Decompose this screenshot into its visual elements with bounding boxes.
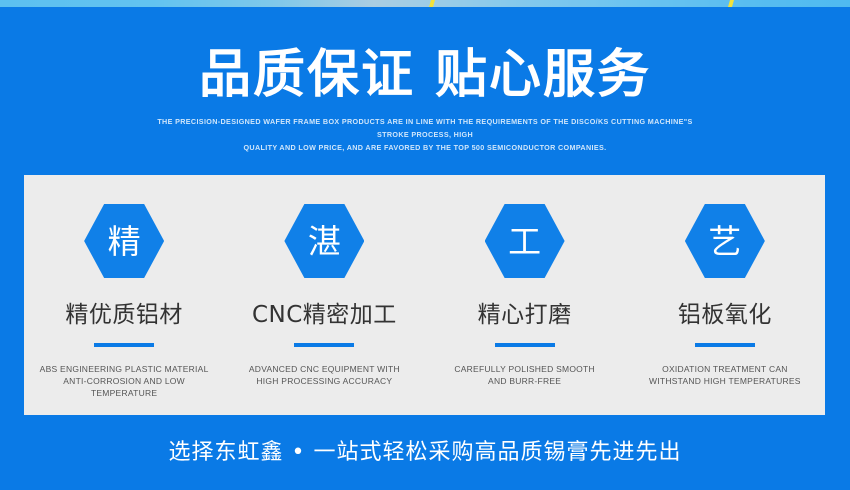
headline-subtitle: THE PRECISION-DESIGNED WAFER FRAME BOX P…	[153, 115, 698, 154]
hexagon-badge-label: 湛	[284, 204, 364, 278]
feature-description-line-2: AND BURR-FREE	[439, 375, 611, 387]
feature-title: 精优质铝材	[24, 301, 224, 329]
feature-title: 铝板氧化	[625, 301, 825, 329]
feature-title: CNC精密加工	[224, 301, 424, 329]
hexagon-badge-label: 精	[84, 204, 164, 278]
feature-underline-rule	[495, 343, 555, 347]
footer-tagline: 选择东虹鑫 • 一站式轻松采购高品质锡膏先进先出	[0, 438, 850, 468]
feature-item-2: 湛 CNC精密加工 ADVANCED CNC EQUIPMENT WITH HI…	[224, 175, 424, 415]
feature-description: OXIDATION TREATMENT CAN WITHSTAND HIGH T…	[639, 363, 811, 387]
feature-item-3: 工 精心打磨 CAREFULLY POLISHED SMOOTH AND BUR…	[425, 175, 625, 415]
hexagon-badge-icon: 湛	[284, 204, 364, 278]
promo-banner-page: 品质保证 贴心服务 THE PRECISION-DESIGNED WAFER F…	[0, 0, 850, 490]
feature-description: CAREFULLY POLISHED SMOOTH AND BURR-FREE	[439, 363, 611, 387]
feature-underline-rule	[294, 343, 354, 347]
top-gradient-strip	[0, 0, 850, 7]
feature-card: 精 精优质铝材 ABS ENGINEERING PLASTIC MATERIAL…	[24, 175, 825, 415]
feature-underline-rule	[94, 343, 154, 347]
feature-description-line-2: HIGH PROCESSING ACCURACY	[238, 375, 410, 387]
page-title: 品质保证 贴心服务	[0, 43, 850, 107]
feature-description-line-1: ADVANCED CNC EQUIPMENT WITH	[238, 363, 410, 375]
yellow-accent-tick-icon	[428, 0, 435, 7]
feature-description-line-1: ABS ENGINEERING PLASTIC MATERIAL	[38, 363, 210, 375]
feature-item-1: 精 精优质铝材 ABS ENGINEERING PLASTIC MATERIAL…	[24, 175, 224, 415]
feature-underline-rule	[695, 343, 755, 347]
feature-description-line-1: CAREFULLY POLISHED SMOOTH	[439, 363, 611, 375]
hexagon-badge-icon: 工	[485, 204, 565, 278]
headline-subtitle-line-1: THE PRECISION-DESIGNED WAFER FRAME BOX P…	[153, 115, 698, 141]
hexagon-badge-icon: 精	[84, 204, 164, 278]
feature-title: 精心打磨	[425, 301, 625, 329]
feature-description-line-2: WITHSTAND HIGH TEMPERATURES	[639, 375, 811, 387]
feature-description: ADVANCED CNC EQUIPMENT WITH HIGH PROCESS…	[238, 363, 410, 387]
feature-description-line-1: OXIDATION TREATMENT CAN	[639, 363, 811, 375]
feature-item-4: 艺 铝板氧化 OXIDATION TREATMENT CAN WITHSTAND…	[625, 175, 825, 415]
hexagon-badge-icon: 艺	[685, 204, 765, 278]
headline-block: 品质保证 贴心服务 THE PRECISION-DESIGNED WAFER F…	[0, 43, 850, 154]
hexagon-badge-label: 艺	[685, 204, 765, 278]
feature-description-line-2: ANTI-CORROSION AND LOW TEMPERATURE	[38, 375, 210, 399]
hexagon-badge-label: 工	[485, 204, 565, 278]
feature-list: 精 精优质铝材 ABS ENGINEERING PLASTIC MATERIAL…	[24, 175, 825, 415]
feature-description: ABS ENGINEERING PLASTIC MATERIAL ANTI-CO…	[38, 363, 210, 399]
yellow-accent-tick-icon	[727, 0, 734, 7]
headline-subtitle-line-2: QUALITY AND LOW PRICE, AND ARE FAVORED B…	[153, 141, 698, 154]
